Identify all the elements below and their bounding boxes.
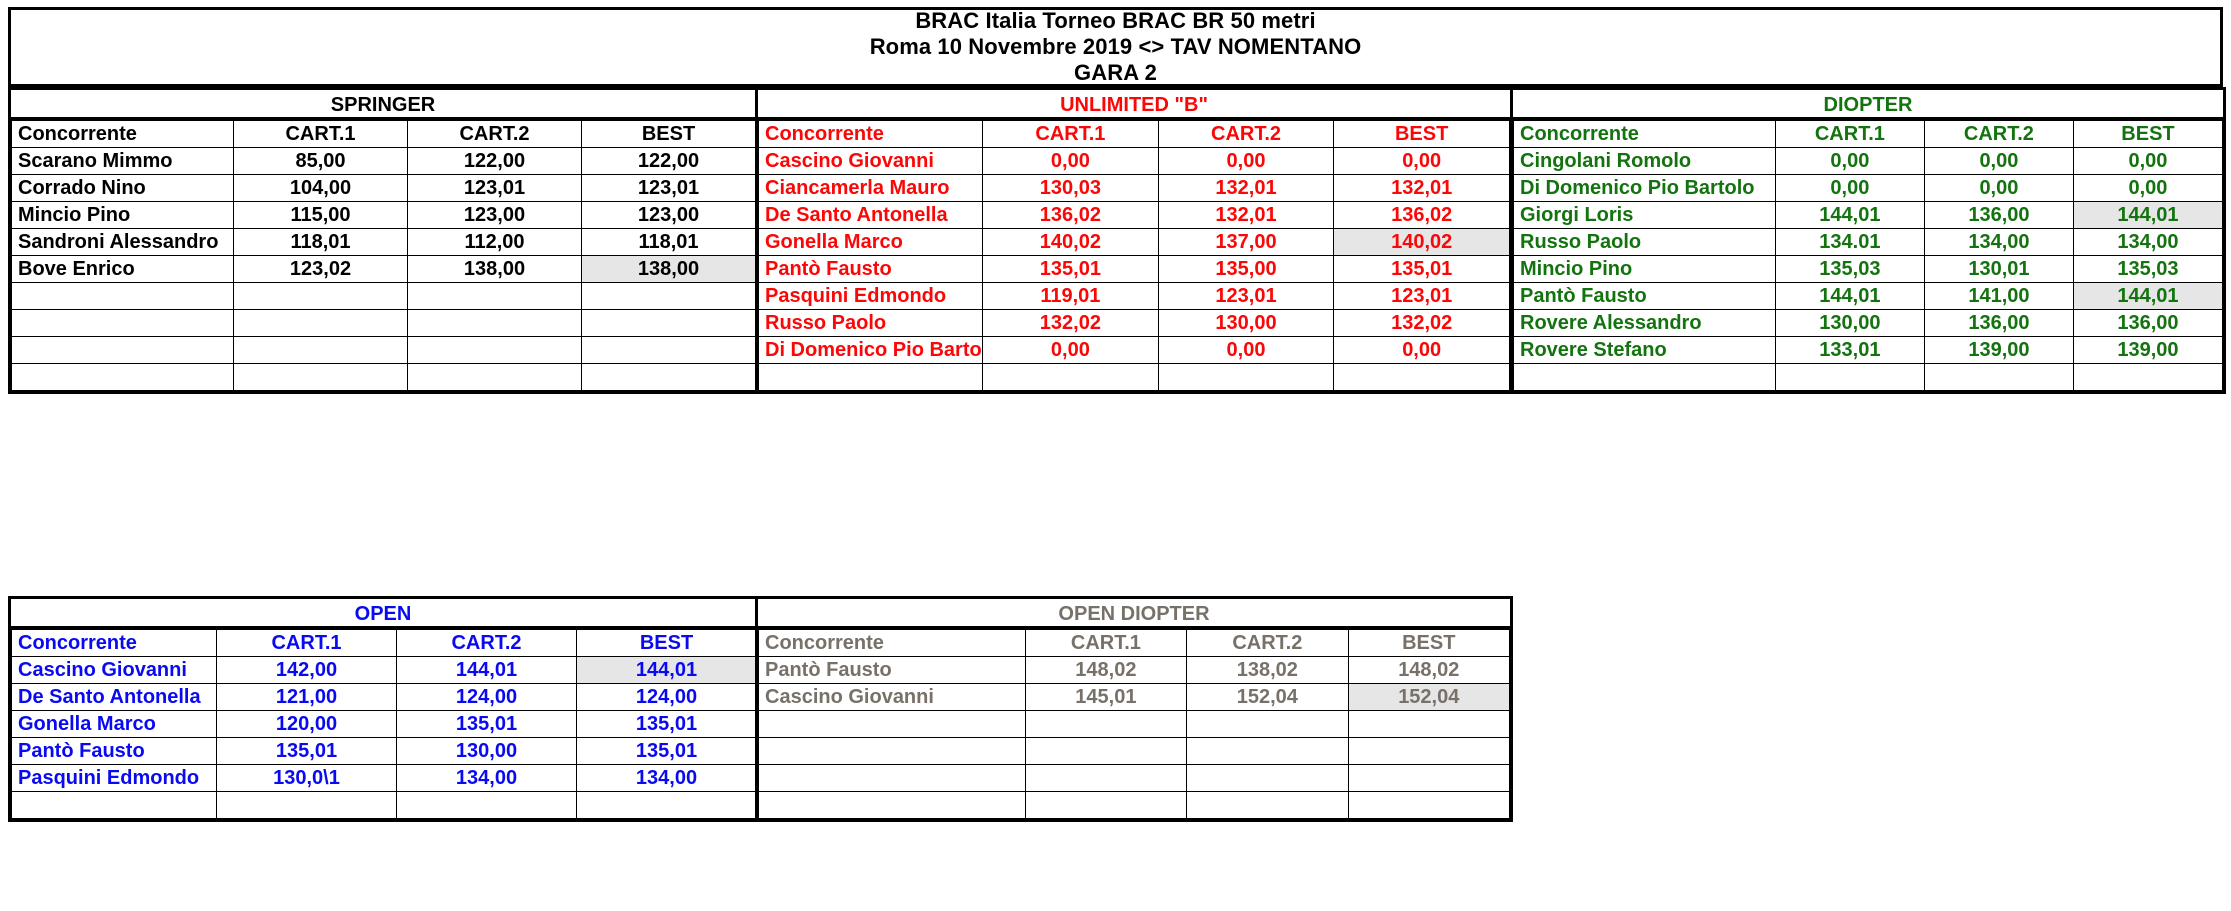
category-title-open_diopter: OPEN DIOPTER — [758, 599, 1510, 629]
table-header-row: ConcorrenteCART.1CART.2BEST — [759, 630, 1510, 657]
table-row: Pantò Fausto135,01135,00135,01 — [759, 256, 1510, 283]
col-header-cart1: CART.1 — [983, 121, 1159, 148]
col-header-cart1: CART.1 — [217, 630, 397, 657]
table-row — [12, 310, 756, 337]
cell-competitor-name — [759, 364, 983, 391]
category-block-open: OPENConcorrenteCART.1CART.2BESTCascino G… — [8, 596, 758, 822]
cell-cart2: 138,00 — [408, 256, 582, 283]
table-row: Corrado Nino104,00123,01123,01 — [12, 175, 756, 202]
cell-cart2 — [408, 337, 582, 364]
table-row: Mincio Pino115,00123,00123,00 — [12, 202, 756, 229]
cell-cart1: 130,00 — [1775, 310, 1924, 337]
table-row: Cingolani Romolo0,000,000,00 — [1514, 148, 2223, 175]
cell-cart1 — [1775, 364, 1924, 391]
col-header-best: BEST — [582, 121, 756, 148]
col-header-cart2: CART.2 — [1187, 630, 1348, 657]
table-row — [759, 364, 1510, 391]
cell-competitor-name: Cascino Giovanni — [759, 148, 983, 175]
cell-cart2: 132,01 — [1158, 202, 1334, 229]
cell-best: 0,00 — [1334, 337, 1510, 364]
cell-cart2: 123,01 — [1158, 283, 1334, 310]
cell-competitor-name: Gonella Marco — [759, 229, 983, 256]
cell-competitor-name: De Santo Antonella — [12, 684, 217, 711]
cell-cart1: 148,02 — [1025, 657, 1186, 684]
table-row: Pasquini Edmondo119,01123,01123,01 — [759, 283, 1510, 310]
category-block-open_diopter: OPEN DIOPTERConcorrenteCART.1CART.2BESTP… — [755, 596, 1513, 822]
cell-cart2 — [1187, 792, 1348, 819]
cell-cart1 — [983, 364, 1159, 391]
cell-cart1 — [1025, 738, 1186, 765]
table-row — [12, 792, 757, 819]
cell-best — [1348, 765, 1509, 792]
cell-cart2 — [1924, 364, 2073, 391]
cell-cart1 — [1025, 765, 1186, 792]
cell-cart2: 139,00 — [1924, 337, 2073, 364]
cell-best — [582, 364, 756, 391]
cell-best: 144,01 — [2073, 202, 2222, 229]
report-title-line-1: BRAC Italia Torneo BRAC BR 50 metri — [915, 8, 1315, 34]
table-row: Di Domenico Pio Bartolo0,000,000,00 — [759, 337, 1510, 364]
cell-best — [582, 283, 756, 310]
cell-cart2 — [408, 310, 582, 337]
table-row: Cascino Giovanni0,000,000,00 — [759, 148, 1510, 175]
cell-best — [582, 310, 756, 337]
results-table-unlimited_b: ConcorrenteCART.1CART.2BESTCascino Giova… — [758, 120, 1510, 391]
cell-cart2: 136,00 — [1924, 202, 2073, 229]
col-header-concorrente: Concorrente — [759, 630, 1026, 657]
table-row: Pantò Fausto135,01130,00135,01 — [12, 738, 757, 765]
category-block-diopter: DIOPTERConcorrenteCART.1CART.2BESTCingol… — [1510, 87, 2226, 394]
cell-competitor-name: Scarano Mimmo — [12, 148, 234, 175]
cell-competitor-name: Bove Enrico — [12, 256, 234, 283]
cell-competitor-name — [12, 283, 234, 310]
col-header-cart1: CART.1 — [1775, 121, 1924, 148]
table-row — [759, 711, 1510, 738]
cell-best: 122,00 — [582, 148, 756, 175]
cell-cart2: 132,01 — [1158, 175, 1334, 202]
cell-best: 134,00 — [577, 765, 757, 792]
cell-best — [1348, 711, 1509, 738]
table-row: Giorgi Loris144,01136,00144,01 — [1514, 202, 2223, 229]
results-table-diopter: ConcorrenteCART.1CART.2BESTCingolani Rom… — [1513, 120, 2223, 391]
cell-best: 138,00 — [582, 256, 756, 283]
cell-cart2 — [1187, 765, 1348, 792]
cell-cart1: 118,01 — [234, 229, 408, 256]
col-header-cart2: CART.2 — [1158, 121, 1334, 148]
cell-cart1: 142,00 — [217, 657, 397, 684]
cell-cart1: 134.01 — [1775, 229, 1924, 256]
cell-cart2: 136,00 — [1924, 310, 2073, 337]
cell-best: 144,01 — [2073, 283, 2222, 310]
cell-competitor-name: Rovere Alessandro — [1514, 310, 1776, 337]
col-header-concorrente: Concorrente — [1514, 121, 1776, 148]
col-header-best: BEST — [1348, 630, 1509, 657]
report-title-line-2: Roma 10 Novembre 2019 <> TAV NOMENTANO — [870, 34, 1362, 60]
cell-best: 134,00 — [2073, 229, 2222, 256]
table-header-row: ConcorrenteCART.1CART.2BEST — [759, 121, 1510, 148]
cell-best: 123,01 — [582, 175, 756, 202]
cell-best — [2073, 364, 2222, 391]
table-row: Pasquini Edmondo130,0\1134,00134,00 — [12, 765, 757, 792]
cell-best: 0,00 — [2073, 148, 2222, 175]
results-table-springer: ConcorrenteCART.1CART.2BESTScarano Mimmo… — [11, 120, 756, 391]
cell-cart1: 85,00 — [234, 148, 408, 175]
cell-best — [577, 792, 757, 819]
category-title-unlimited_b: UNLIMITED "B" — [758, 90, 1510, 120]
cell-best: 124,00 — [577, 684, 757, 711]
cell-competitor-name: Cingolani Romolo — [1514, 148, 1776, 175]
cell-competitor-name: Pantò Fausto — [759, 657, 1026, 684]
cell-competitor-name: Di Domenico Pio Bartolo — [1514, 175, 1776, 202]
cell-competitor-name: Gonella Marco — [12, 711, 217, 738]
cell-best: 139,00 — [2073, 337, 2222, 364]
cell-cart2: 130,01 — [1924, 256, 2073, 283]
cell-cart2: 152,04 — [1187, 684, 1348, 711]
cell-competitor-name: Cascino Giovanni — [759, 684, 1026, 711]
cell-cart2: 123,00 — [408, 202, 582, 229]
report-title-line-3: GARA 2 — [1074, 60, 1157, 86]
cell-cart1: 0,00 — [983, 148, 1159, 175]
cell-best — [1348, 738, 1509, 765]
cell-best: 135,01 — [1334, 256, 1510, 283]
cell-competitor-name — [12, 310, 234, 337]
cell-cart2: 130,00 — [1158, 310, 1334, 337]
cell-cart2: 122,00 — [408, 148, 582, 175]
cell-best — [1348, 792, 1509, 819]
cell-best: 135,03 — [2073, 256, 2222, 283]
cell-competitor-name: Russo Paolo — [759, 310, 983, 337]
cell-best: 132,02 — [1334, 310, 1510, 337]
cell-cart1: 0,00 — [983, 337, 1159, 364]
col-header-cart1: CART.1 — [1025, 630, 1186, 657]
table-row — [759, 738, 1510, 765]
cell-cart1 — [1025, 711, 1186, 738]
cell-cart1: 135,01 — [983, 256, 1159, 283]
cell-competitor-name — [12, 337, 234, 364]
col-header-cart2: CART.2 — [408, 121, 582, 148]
cell-best: 144,01 — [577, 657, 757, 684]
cell-competitor-name — [1514, 364, 1776, 391]
col-header-cart1: CART.1 — [234, 121, 408, 148]
cell-best: 152,04 — [1348, 684, 1509, 711]
cell-cart2: 144,01 — [397, 657, 577, 684]
cell-cart1: 136,02 — [983, 202, 1159, 229]
col-header-concorrente: Concorrente — [12, 630, 217, 657]
table-row: Gonella Marco120,00135,01135,01 — [12, 711, 757, 738]
cell-competitor-name: Cascino Giovanni — [12, 657, 217, 684]
cell-cart1: 121,00 — [217, 684, 397, 711]
table-row: Russo Paolo134.01134,00134,00 — [1514, 229, 2223, 256]
bottom-category-band: OPENConcorrenteCART.1CART.2BESTCascino G… — [8, 596, 1510, 822]
table-row: Scarano Mimmo85,00122,00122,00 — [12, 148, 756, 175]
cell-cart1 — [1025, 792, 1186, 819]
col-header-best: BEST — [577, 630, 757, 657]
table-row: Cascino Giovanni145,01152,04152,04 — [759, 684, 1510, 711]
table-row: Bove Enrico123,02138,00138,00 — [12, 256, 756, 283]
cell-competitor-name: Pantò Fausto — [12, 738, 217, 765]
cell-competitor-name: De Santo Antonella — [759, 202, 983, 229]
cell-competitor-name: Pasquini Edmondo — [759, 283, 983, 310]
cell-competitor-name — [759, 711, 1026, 738]
table-header-row: ConcorrenteCART.1CART.2BEST — [12, 121, 756, 148]
cell-cart1: 135,03 — [1775, 256, 1924, 283]
cell-cart1: 145,01 — [1025, 684, 1186, 711]
cell-cart1: 130,0\1 — [217, 765, 397, 792]
report-title-block: BRAC Italia Torneo BRAC BR 50 metri Roma… — [8, 7, 2223, 87]
cell-cart1: 130,03 — [983, 175, 1159, 202]
col-header-concorrente: Concorrente — [759, 121, 983, 148]
col-header-cart2: CART.2 — [1924, 121, 2073, 148]
table-row — [12, 364, 756, 391]
table-row: Di Domenico Pio Bartolo0,000,000,00 — [1514, 175, 2223, 202]
cell-cart2 — [408, 283, 582, 310]
cell-cart2: 124,00 — [397, 684, 577, 711]
cell-cart1: 119,01 — [983, 283, 1159, 310]
cell-best: 140,02 — [1334, 229, 1510, 256]
cell-competitor-name: Russo Paolo — [1514, 229, 1776, 256]
table-row — [12, 283, 756, 310]
table-row: Rovere Stefano133,01139,00139,00 — [1514, 337, 2223, 364]
results-table-open_diopter: ConcorrenteCART.1CART.2BESTPantò Fausto1… — [758, 629, 1510, 819]
cell-cart1: 0,00 — [1775, 175, 1924, 202]
table-row — [759, 765, 1510, 792]
category-block-unlimited_b: UNLIMITED "B"ConcorrenteCART.1CART.2BEST… — [755, 87, 1513, 394]
cell-cart1 — [234, 310, 408, 337]
cell-best: 135,01 — [577, 711, 757, 738]
col-header-cart2: CART.2 — [397, 630, 577, 657]
cell-cart1: 120,00 — [217, 711, 397, 738]
table-row — [759, 792, 1510, 819]
cell-cart1: 133,01 — [1775, 337, 1924, 364]
table-row: Mincio Pino135,03130,01135,03 — [1514, 256, 2223, 283]
table-row: Sandroni Alessandro118,01112,00118,01 — [12, 229, 756, 256]
cell-competitor-name: Giorgi Loris — [1514, 202, 1776, 229]
cell-cart1: 115,00 — [234, 202, 408, 229]
cell-competitor-name — [759, 765, 1026, 792]
table-row: Pantò Fausto144,01141,00144,01 — [1514, 283, 2223, 310]
cell-cart2: 138,02 — [1187, 657, 1348, 684]
category-title-diopter: DIOPTER — [1513, 90, 2223, 120]
cell-cart1: 140,02 — [983, 229, 1159, 256]
cell-competitor-name: Di Domenico Pio Bartolo — [759, 337, 983, 364]
cell-competitor-name: Sandroni Alessandro — [12, 229, 234, 256]
cell-best: 123,01 — [1334, 283, 1510, 310]
cell-cart1: 132,02 — [983, 310, 1159, 337]
cell-cart1: 104,00 — [234, 175, 408, 202]
cell-best: 135,01 — [577, 738, 757, 765]
cell-competitor-name: Pantò Fausto — [1514, 283, 1776, 310]
table-row: De Santo Antonella136,02132,01136,02 — [759, 202, 1510, 229]
cell-cart2: 141,00 — [1924, 283, 2073, 310]
cell-competitor-name — [759, 738, 1026, 765]
cell-cart2: 135,01 — [397, 711, 577, 738]
cell-best: 132,01 — [1334, 175, 1510, 202]
cell-cart1: 144,01 — [1775, 202, 1924, 229]
category-title-springer: SPRINGER — [11, 90, 755, 120]
cell-competitor-name: Mincio Pino — [12, 202, 234, 229]
cell-competitor-name — [759, 792, 1026, 819]
cell-best: 0,00 — [1334, 148, 1510, 175]
cell-cart2 — [1187, 711, 1348, 738]
cell-best: 0,00 — [2073, 175, 2222, 202]
cell-cart2: 123,01 — [408, 175, 582, 202]
cell-cart1: 135,01 — [217, 738, 397, 765]
cell-competitor-name: Corrado Nino — [12, 175, 234, 202]
cell-best: 148,02 — [1348, 657, 1509, 684]
top-category-band: SPRINGERConcorrenteCART.1CART.2BESTScara… — [8, 87, 2223, 394]
table-row: Gonella Marco140,02137,00140,02 — [759, 229, 1510, 256]
cell-best — [1334, 364, 1510, 391]
cell-cart2: 0,00 — [1924, 148, 2073, 175]
col-header-best: BEST — [2073, 121, 2222, 148]
table-row: Pantò Fausto148,02138,02148,02 — [759, 657, 1510, 684]
cell-competitor-name: Ciancamerla Mauro — [759, 175, 983, 202]
table-header-row: ConcorrenteCART.1CART.2BEST — [12, 630, 757, 657]
table-row — [1514, 364, 2223, 391]
category-block-springer: SPRINGERConcorrenteCART.1CART.2BESTScara… — [8, 87, 758, 394]
cell-best — [582, 337, 756, 364]
col-header-best: BEST — [1334, 121, 1510, 148]
cell-competitor-name — [12, 792, 217, 819]
cell-cart1 — [217, 792, 397, 819]
cell-cart1: 123,02 — [234, 256, 408, 283]
cell-best: 118,01 — [582, 229, 756, 256]
cell-cart1 — [234, 283, 408, 310]
cell-competitor-name: Pasquini Edmondo — [12, 765, 217, 792]
cell-competitor-name: Rovere Stefano — [1514, 337, 1776, 364]
spreadsheet-sheet: BRAC Italia Torneo BRAC BR 50 metri Roma… — [0, 0, 2231, 911]
cell-cart2 — [1158, 364, 1334, 391]
cell-cart2 — [1187, 738, 1348, 765]
col-header-concorrente: Concorrente — [12, 121, 234, 148]
cell-cart2: 137,00 — [1158, 229, 1334, 256]
category-title-open: OPEN — [11, 599, 755, 629]
cell-cart1: 0,00 — [1775, 148, 1924, 175]
table-row: Ciancamerla Mauro130,03132,01132,01 — [759, 175, 1510, 202]
cell-cart1 — [234, 337, 408, 364]
cell-competitor-name: Pantò Fausto — [759, 256, 983, 283]
cell-competitor-name: Mincio Pino — [1514, 256, 1776, 283]
cell-cart1: 144,01 — [1775, 283, 1924, 310]
cell-best: 136,02 — [1334, 202, 1510, 229]
cell-cart2 — [397, 792, 577, 819]
cell-best: 136,00 — [2073, 310, 2222, 337]
cell-cart2 — [408, 364, 582, 391]
table-row: Russo Paolo132,02130,00132,02 — [759, 310, 1510, 337]
table-row: Cascino Giovanni142,00144,01144,01 — [12, 657, 757, 684]
cell-best: 123,00 — [582, 202, 756, 229]
cell-cart1 — [234, 364, 408, 391]
table-row: Rovere Alessandro130,00136,00136,00 — [1514, 310, 2223, 337]
cell-cart2: 0,00 — [1924, 175, 2073, 202]
cell-cart2: 0,00 — [1158, 148, 1334, 175]
cell-cart2: 134,00 — [1924, 229, 2073, 256]
cell-cart2: 112,00 — [408, 229, 582, 256]
table-row — [12, 337, 756, 364]
cell-cart2: 0,00 — [1158, 337, 1334, 364]
cell-cart2: 134,00 — [397, 765, 577, 792]
cell-competitor-name — [12, 364, 234, 391]
table-header-row: ConcorrenteCART.1CART.2BEST — [1514, 121, 2223, 148]
results-table-open: ConcorrenteCART.1CART.2BESTCascino Giova… — [11, 629, 757, 819]
cell-cart2: 135,00 — [1158, 256, 1334, 283]
cell-cart2: 130,00 — [397, 738, 577, 765]
table-row: De Santo Antonella121,00124,00124,00 — [12, 684, 757, 711]
